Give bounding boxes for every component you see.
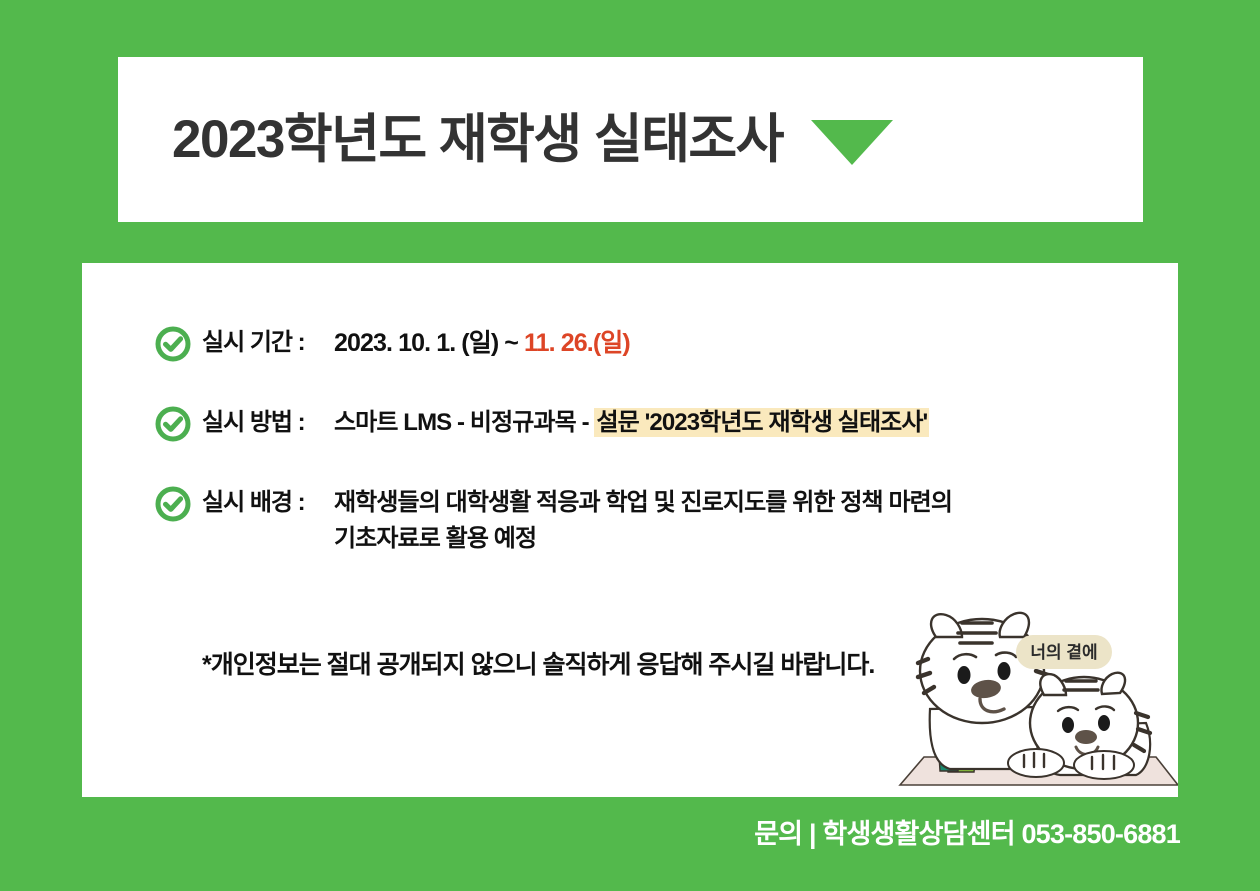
title-card: 2023학년도 재학생 실태조사: [118, 57, 1143, 222]
background-text-line1: 재학생들의 대학생활 적응과 학업 및 진로지도를 위한 정책 마련의: [334, 489, 952, 516]
info-row-value: 재학생들의 대학생활 적응과 학업 및 진로지도를 위한 정책 마련의 기초자료…: [334, 485, 952, 557]
method-survey-name-highlight: 설문 '2023학년도 재학생 실태조사': [594, 408, 929, 437]
info-row-label: 실시 배경 :: [202, 485, 334, 521]
check-circle-icon: [155, 486, 191, 522]
info-row-label: 실시 방법 :: [202, 405, 334, 441]
info-row-period: 실시 기간 : 2023. 10. 1. (일) ~ 11. 26.(일): [155, 325, 1115, 362]
background-text-line2: 기초자료로 활용 예정: [334, 521, 952, 557]
period-end-text: 11. 26.(일): [524, 329, 630, 357]
footer-contact: 문의 | 학생생활상담센터 053-850-6881: [0, 812, 1180, 851]
page-title: 2023학년도 재학생 실태조사: [172, 113, 783, 166]
speech-bubble-text: 너의 곁에: [1030, 643, 1097, 662]
tiger-mascot-illustration: 너의 곁에: [888, 597, 1178, 797]
triangle-down-icon: [811, 120, 893, 165]
info-row-list: 실시 기간 : 2023. 10. 1. (일) ~ 11. 26.(일) 실시…: [155, 325, 1115, 557]
privacy-note: *개인정보는 절대 공개되지 않으니 솔직하게 응답해 주시길 바랍니다.: [202, 645, 874, 681]
info-row-method: 실시 방법 : 스마트 LMS - 비정규과목 - 설문 '2023학년도 재학…: [155, 405, 1115, 442]
info-row-value: 스마트 LMS - 비정규과목 - 설문 '2023학년도 재학생 실태조사': [334, 405, 929, 441]
poster-root: 2023학년도 재학생 실태조사 실시 기간 : 2023. 10. 1. (일…: [0, 0, 1260, 891]
period-start-text: 2023. 10. 1. (일) ~: [334, 329, 524, 357]
info-row-label: 실시 기간 :: [202, 325, 334, 361]
check-circle-icon: [155, 406, 191, 442]
method-path-text: 스마트 LMS - 비정규과목 -: [334, 409, 594, 436]
check-circle-icon: [155, 326, 191, 362]
info-row-value: 2023. 10. 1. (일) ~ 11. 26.(일): [334, 325, 630, 361]
info-row-background: 실시 배경 : 재학생들의 대학생활 적응과 학업 및 진로지도를 위한 정책 …: [155, 485, 1115, 557]
main-content-card: 실시 기간 : 2023. 10. 1. (일) ~ 11. 26.(일) 실시…: [82, 263, 1178, 797]
